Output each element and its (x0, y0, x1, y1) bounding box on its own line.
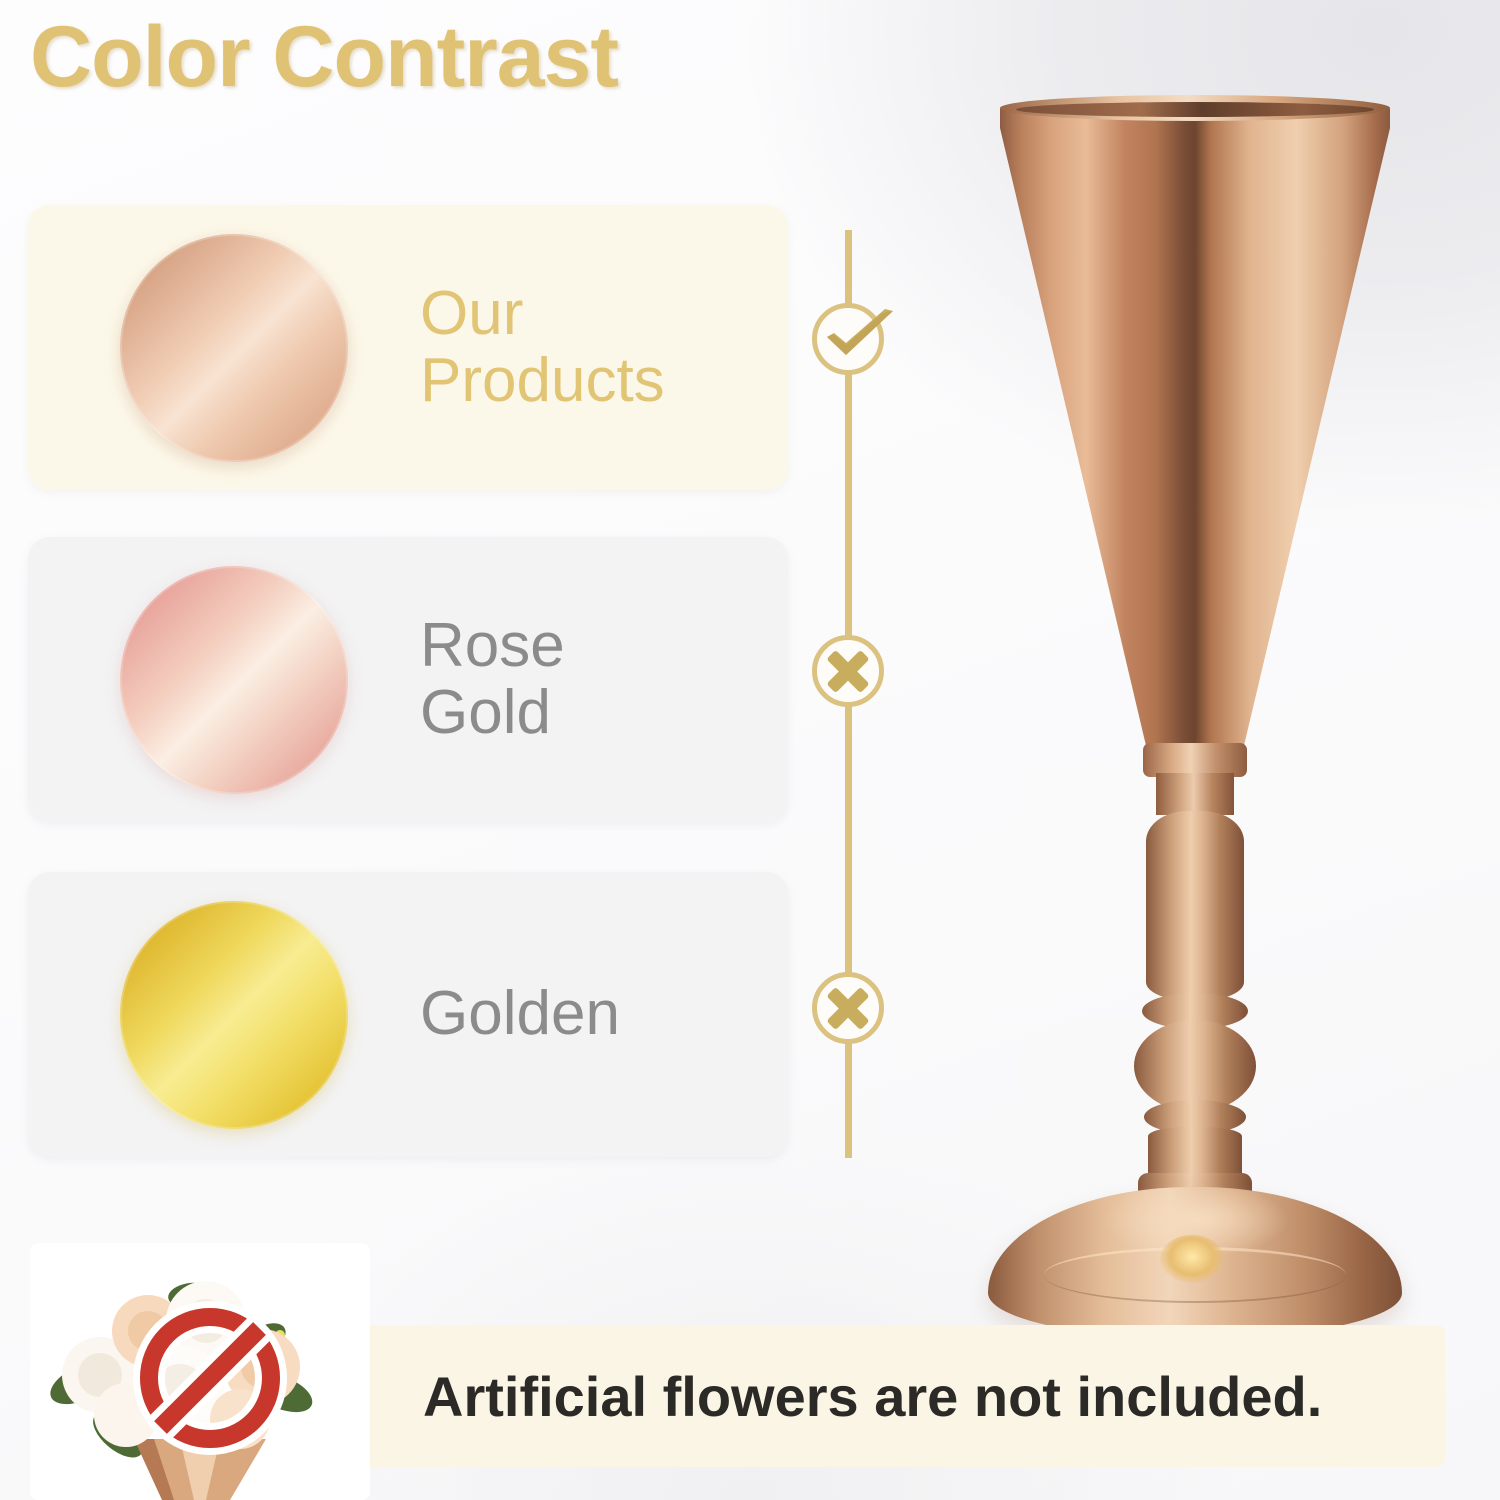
vase-neck (1156, 773, 1234, 815)
swatch-circle-golden (120, 901, 348, 1129)
page-title: Color Contrast (30, 8, 618, 107)
vase-stem-baluster (1146, 811, 1244, 1001)
swatch-label-our-products: Our Products (420, 281, 665, 415)
swatch-circle-rose-copper (120, 234, 348, 462)
swatch-card-rose-gold[interactable]: Rose Gold (28, 537, 788, 822)
x-icon-rose-gold (812, 635, 884, 707)
vase-stem-taper (1148, 1127, 1242, 1179)
vase-rim (1000, 95, 1390, 121)
vase-base-highlight (1160, 1235, 1224, 1283)
prohibition-icon (140, 1308, 280, 1448)
swatch-card-golden[interactable]: Golden (28, 872, 788, 1157)
swatch-card-our-products[interactable]: Our Products (28, 205, 788, 490)
flower-thumbnail (30, 1243, 370, 1500)
vase-collar (1143, 743, 1247, 777)
swatch-label-rose-gold: Rose Gold (420, 613, 565, 747)
x-icon-golden (812, 972, 884, 1044)
swatch-label-golden: Golden (420, 981, 620, 1048)
x-icon-glyph (824, 984, 872, 1032)
swatch-circle-rose-gold (120, 566, 348, 794)
vase-stem-bulb (1134, 1020, 1256, 1112)
notice-banner: Artificial flowers are not included. (355, 1325, 1445, 1467)
check-icon-glyph (823, 309, 897, 367)
check-icon (812, 303, 884, 375)
vase-cone (1000, 95, 1390, 755)
notice-text: Artificial flowers are not included. (423, 1364, 1322, 1429)
status-divider (816, 230, 880, 1158)
product-vase-image (960, 95, 1430, 1300)
x-icon-glyph (824, 647, 872, 695)
